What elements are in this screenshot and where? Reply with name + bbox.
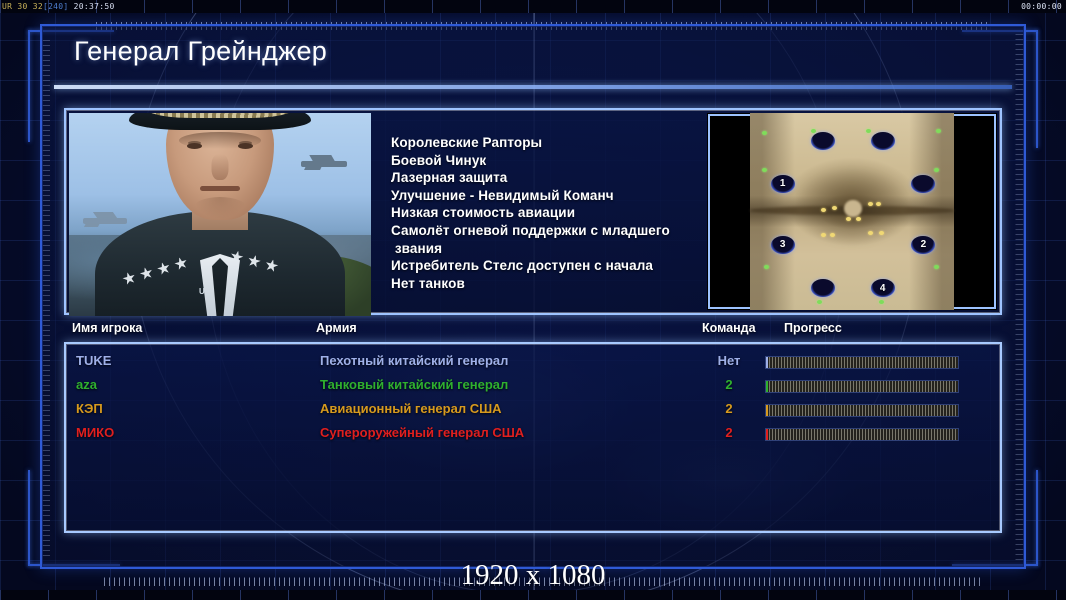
progress-bar-segments [766,405,958,416]
cell-army: Пехотный китайский генерал [320,353,508,368]
general-portrait: U.S. [69,113,371,316]
player-table-header: Имя игрока Армия Команда Прогресс [64,321,1002,343]
cell-army: Авиационный генерал США [320,401,502,416]
map-oil-node [821,208,826,212]
table-row[interactable]: azaТанковый китайский генерал2 [66,375,1000,399]
cell-team: 2 [704,401,754,416]
map-oil-node [832,206,837,210]
cell-player-name: КЭП [76,401,103,416]
map-supply-node [764,265,769,269]
map-spawn-point: 3 [771,236,795,254]
aircraft-icon [301,161,347,167]
table-row[interactable]: МИКОСупероружейный генерал США2 [66,423,1000,447]
portrait-mouth [200,186,240,191]
map-supply-node [934,168,939,172]
progress-bar [766,381,958,392]
map-supply-node [934,265,939,269]
table-row[interactable]: КЭПАвиационный генерал США2 [66,399,1000,423]
resolution-label: 1920 x 1080 [0,559,1066,592]
cell-player-name: МИКО [76,425,114,440]
map-spawn-point [811,132,835,150]
bottom-bar-ticks [0,590,1066,600]
game-clock: 00:00:00 [1021,0,1062,13]
ability-item: Боевой Чинук [391,152,707,170]
debug-values: 30 32 [17,2,43,11]
map-preview[interactable]: 1324 [707,113,997,310]
map-oil-node [879,231,884,235]
progress-bar-segments [766,381,958,392]
progress-bar [766,357,958,368]
bottom-system-bar [0,590,1066,600]
title-bar: Генерал Грейнджер [54,34,1012,86]
map-supply-node [762,168,767,172]
page-title: Генерал Грейнджер [74,36,327,67]
top-system-bar: UR 30 32[240] 20:37:50 00:00:00 [0,0,1066,13]
ability-item: Королевские Рапторы [391,134,707,152]
map-supply-node [936,129,941,133]
column-header-player-name: Имя игрока [72,321,142,335]
ability-item: Низкая стоимость авиации [391,204,707,222]
cell-team: 2 [704,425,754,440]
cell-player-name: aza [76,377,97,392]
aircraft-icon [83,218,127,224]
ability-item: Лазерная защита [391,169,707,187]
progress-bar-fill [766,429,768,440]
portrait-nose [212,154,229,180]
general-info-panel: U.S. Королевск [64,108,1002,315]
map-terrain: 1324 [750,113,954,310]
map-supply-node [879,300,884,304]
debug-time: 20:37:50 [74,2,115,11]
cell-army: Танковый китайский генерал [320,377,508,392]
map-oil-node [830,233,835,237]
map-oil-node [868,202,873,206]
title-divider [54,85,1012,89]
debug-bracket: [240] [43,2,69,11]
cell-team: Нет [704,353,754,368]
map-spawn-point: 4 [871,279,895,297]
game-screen: Генерал Грейнджер U [0,0,1066,600]
general-abilities-list: Королевские Рапторы Боевой Чинук Лазерна… [371,110,707,313]
progress-bar-fill [766,405,768,416]
debug-readout: UR 30 32[240] 20:37:50 [2,0,115,13]
map-spawn-point [911,175,935,193]
rank-stars-right [229,249,326,286]
ability-item: Нет танков [391,275,707,293]
map-spawn-point [811,279,835,297]
ability-item: звания [391,240,707,258]
column-header-progress: Прогресс [784,321,842,335]
column-header-team: Команда [702,321,756,335]
column-header-army: Армия [316,321,357,335]
progress-bar-segments [766,357,958,368]
cell-army: Супероружейный генерал США [320,425,524,440]
ability-item: Улучшение - Невидимый Команч [391,187,707,205]
portrait-eye-left [187,143,202,149]
progress-bar [766,405,958,416]
map-supply-node [811,129,816,133]
ability-item: Самолёт огневой поддержки с младшего [391,222,707,240]
progress-bar-fill [766,357,768,368]
map-spawn-point [871,132,895,150]
cell-player-name: TUKE [76,353,111,368]
portrait-eye-right [238,143,253,149]
progress-bar-fill [766,381,768,392]
player-list-panel: TUKEПехотный китайский генералНетazaТанк… [64,342,1002,533]
map-spawn-point: 2 [911,236,935,254]
ability-item: Истребитель Стелс доступен с начала [391,257,707,275]
debug-prefix: UR [2,2,12,11]
map-supply-node [866,129,871,133]
portrait-chin [193,197,247,219]
progress-bar-segments [766,429,958,440]
map-supply-node [817,300,822,304]
map-spawn-point: 1 [771,175,795,193]
table-row[interactable]: TUKEПехотный китайский генералНет [66,351,1000,375]
cell-team: 2 [704,377,754,392]
progress-bar [766,429,958,440]
map-supply-node [762,131,767,135]
top-bar-ticks [0,0,1066,13]
general-info-window: Генерал Грейнджер U [40,24,1026,569]
